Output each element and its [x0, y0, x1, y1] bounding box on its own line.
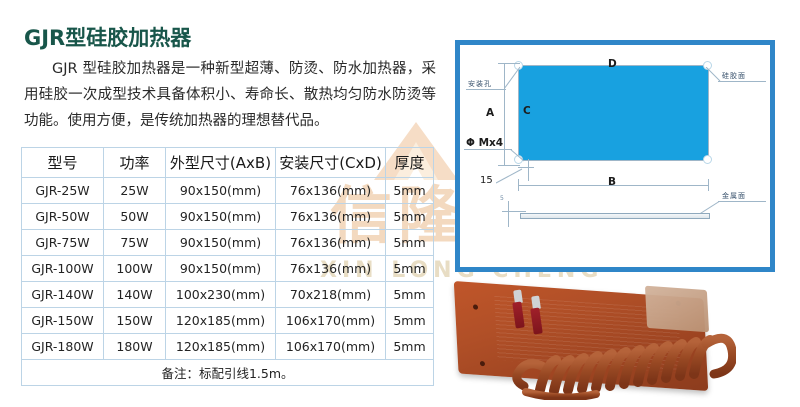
cell-outer-dim: 90x150(mm): [166, 256, 276, 282]
left-column: GJR型硅胶加热器 GJR 型硅胶加热器是一种新型超薄、防烫、防水加热器，采用硅…: [0, 0, 450, 407]
cell-outer-dim: 100x230(mm): [166, 282, 276, 308]
leader-silicone-h: [718, 81, 766, 82]
dim-arrow-a-top: [498, 63, 520, 64]
pad-adhesive-patch: [645, 286, 709, 333]
cell-power: 140W: [104, 282, 166, 308]
cell-outer-dim: 120x185(mm): [166, 308, 276, 334]
leader-thread-diag: [510, 149, 526, 163]
cell-power: 180W: [104, 334, 166, 360]
cell-thickness: 5mm: [386, 230, 434, 256]
table-row: GJR-100W100W90x150(mm)76x136(mm)5mm: [22, 256, 434, 282]
intro-paragraph: GJR 型硅胶加热器是一种新型超薄、防烫、防水加热器，采用硅胶一次成型技术具备体…: [24, 56, 436, 134]
table-header-row: 型号 功率 外型尺寸(AxB) 安装尺寸(CxD) 厚度: [22, 148, 434, 178]
coiled-lead-wire: [506, 328, 736, 400]
label-thread-spec: Φ Mx4: [466, 137, 503, 149]
cell-mount-dim: 106x170(mm): [276, 334, 386, 360]
table-row: GJR-150W150W120x185(mm)106x170(mm)5mm: [22, 308, 434, 334]
label-mounting-hole: 安装孔: [468, 79, 492, 89]
table-row: GJR-75W75W90x150(mm)76x136(mm)5mm: [22, 230, 434, 256]
leader-mounting-hole-diag: [504, 65, 524, 91]
cell-outer-dim: 90x150(mm): [166, 178, 276, 204]
leader-edge-margin-diag: [496, 167, 526, 185]
cell-thickness: 5mm: [386, 256, 434, 282]
dim-tick-b-left: [518, 179, 519, 191]
cell-model: GJR-180W: [22, 334, 104, 360]
col-header-power: 功率: [104, 148, 166, 178]
side-view-thickness-tick: [502, 211, 526, 212]
col-header-thickness: 厚度: [386, 148, 434, 178]
col-header-outer-dim: 外型尺寸(AxB): [166, 148, 276, 178]
table-row: GJR-25W25W90x150(mm)76x136(mm)5mm: [22, 178, 434, 204]
cell-model: GJR-150W: [22, 308, 104, 334]
label-metal-face: 金属面: [722, 191, 746, 201]
cell-model: GJR-25W: [22, 178, 104, 204]
pad-mounting-hole-2: [480, 361, 485, 366]
col-header-model: 型号: [22, 148, 104, 178]
cell-mount-dim: 76x136(mm): [276, 178, 386, 204]
cell-model: GJR-100W: [22, 256, 104, 282]
cell-power: 100W: [104, 256, 166, 282]
drawing-canvas: D C A 安装孔 Φ Mx4 15: [460, 45, 770, 267]
side-view-bar: [520, 213, 710, 219]
cell-power: 150W: [104, 308, 166, 334]
cell-outer-dim: 90x150(mm): [166, 204, 276, 230]
remark-cell: 备注：标配引线1.5m。: [22, 360, 434, 386]
label-dim-a: A: [486, 107, 494, 119]
label-edge-margin: 15: [480, 175, 493, 186]
cell-model: GJR-140W: [22, 282, 104, 308]
leader-metal-h: [718, 201, 766, 202]
dim-tick-b-right: [708, 179, 709, 191]
leader-silicone-diag: [704, 67, 722, 83]
cell-mount-dim: 106x170(mm): [276, 308, 386, 334]
dim-tick-15: [518, 167, 534, 168]
leader-mounting-hole-h: [466, 89, 506, 90]
dim-arrow-a-bottom: [498, 165, 520, 166]
cell-thickness: 5mm: [386, 178, 434, 204]
cell-outer-dim: 90x150(mm): [166, 230, 276, 256]
cell-thickness: 5mm: [386, 308, 434, 334]
cell-mount-dim: 76x136(mm): [276, 204, 386, 230]
col-header-mount-dim: 安装尺寸(CxD): [276, 148, 386, 178]
table-remark-row: 备注：标配引线1.5m。: [22, 360, 434, 386]
label-dim-b: B: [608, 176, 616, 188]
cell-power: 75W: [104, 230, 166, 256]
cell-thickness: 5mm: [386, 282, 434, 308]
technical-drawing: D C A 安装孔 Φ Mx4 15: [455, 40, 775, 272]
cell-power: 25W: [104, 178, 166, 204]
cell-thickness: 5mm: [386, 334, 434, 360]
table-row: GJR-140W140W100x230(mm)70x218(mm)5mm: [22, 282, 434, 308]
dim-vertical-15: [528, 159, 529, 181]
cell-outer-dim: 120x185(mm): [166, 334, 276, 360]
cell-model: GJR-75W: [22, 230, 104, 256]
dim-line-d-bottom: [518, 160, 708, 161]
side-view-thickness-ext: [508, 201, 509, 227]
table-body: GJR-25W25W90x150(mm)76x136(mm)5mmGJR-50W…: [22, 178, 434, 360]
cell-thickness: 5mm: [386, 204, 434, 230]
label-dim-d: D: [608, 58, 617, 70]
product-photo: [448, 276, 796, 404]
cell-power: 50W: [104, 204, 166, 230]
label-thickness-small: 5: [500, 195, 504, 202]
mounting-hole-bottom-right: [703, 155, 712, 164]
cell-mount-dim: 76x136(mm): [276, 230, 386, 256]
heater-plate-shape: [518, 65, 708, 160]
cell-model: GJR-50W: [22, 204, 104, 230]
cell-mount-dim: 76x136(mm): [276, 256, 386, 282]
product-spec-page: 信隆诚 XIN LONG CHENG GJR型硅胶加热器 GJR 型硅胶加热器是…: [0, 0, 800, 407]
leader-thread-h: [464, 149, 512, 150]
label-silicone-face: 硅胶面: [722, 71, 746, 81]
pad-mounting-hole-1: [473, 304, 478, 309]
page-title: GJR型硅胶加热器: [24, 22, 191, 52]
table-row: GJR-180W180W120x185(mm)106x170(mm)5mm: [22, 334, 434, 360]
cell-mount-dim: 70x218(mm): [276, 282, 386, 308]
label-dim-c: C: [523, 105, 531, 117]
table-row: GJR-50W50W90x150(mm)76x136(mm)5mm: [22, 204, 434, 230]
specification-table: 型号 功率 外型尺寸(AxB) 安装尺寸(CxD) 厚度 GJR-25W25W9…: [21, 147, 434, 386]
